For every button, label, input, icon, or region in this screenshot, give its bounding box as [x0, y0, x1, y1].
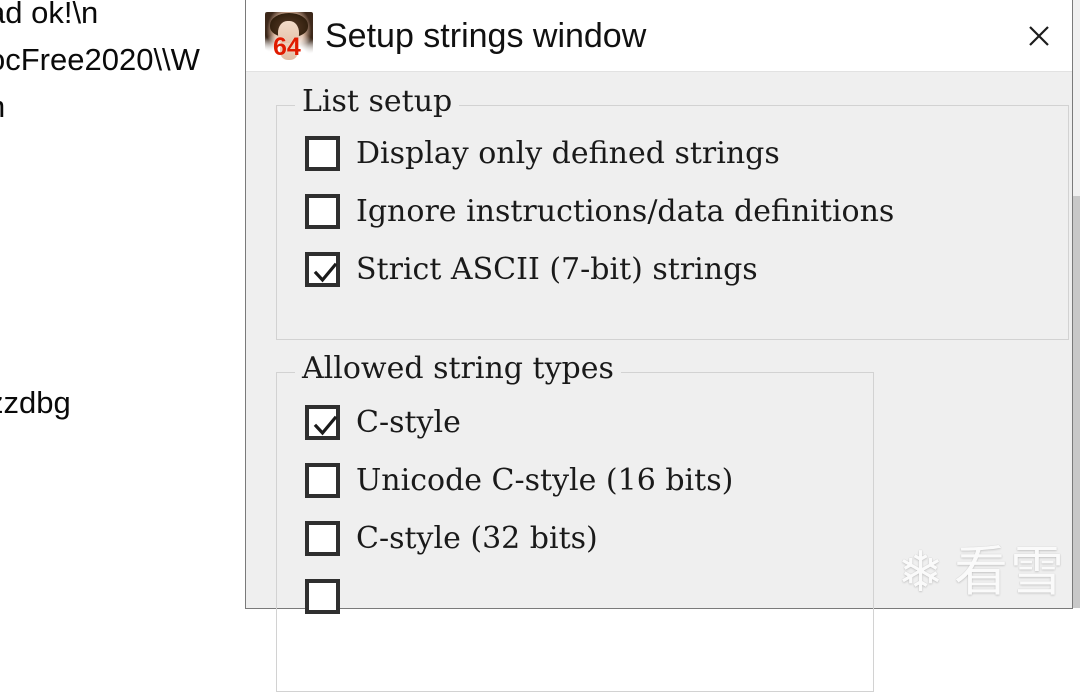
checkbox-partially-visible-below-fold[interactable]: [305, 579, 356, 614]
checkmark-icon: [308, 408, 343, 443]
checkmark-icon: [308, 255, 343, 290]
setup-strings-dialog: 64 Setup strings window List setup Displ…: [245, 0, 1073, 609]
checkbox-box[interactable]: [305, 194, 340, 229]
checkbox-label: C-style (32 bits): [356, 524, 598, 554]
ida-pro-icon: 64: [265, 12, 313, 60]
group-allowed-string-types: Allowed string types C-style Unicode C-s…: [276, 372, 874, 692]
checkbox-box[interactable]: [305, 579, 340, 614]
checkbox-label: C-style: [356, 408, 461, 438]
group-list-setup-title: List setup: [295, 87, 459, 117]
checkbox-box[interactable]: [305, 136, 340, 171]
close-icon[interactable]: [1006, 0, 1072, 71]
checkbox-unicode-c-style-16-bits[interactable]: Unicode C-style (16 bits): [305, 463, 733, 498]
checkbox-strict-ascii-7-bit-strings[interactable]: Strict ASCII (7-bit) strings: [305, 252, 758, 287]
checkbox-label: Strict ASCII (7-bit) strings: [356, 255, 758, 285]
backdrop-text-line: zzdbg: [0, 385, 71, 421]
checkbox-box[interactable]: [305, 521, 340, 556]
checkbox-label: Ignore instructions/data definitions: [356, 197, 894, 227]
backdrop-text-line: ad ok!\n: [0, 0, 98, 31]
vertical-scrollbar-thumb[interactable]: [1072, 196, 1080, 608]
checkbox-box[interactable]: [305, 405, 340, 440]
dialog-title: Setup strings window: [325, 19, 646, 53]
checkbox-c-style-32-bits[interactable]: C-style (32 bits): [305, 521, 598, 556]
checkbox-box[interactable]: [305, 252, 340, 287]
dialog-body: List setup Display only defined strings …: [246, 72, 1072, 608]
checkbox-box[interactable]: [305, 463, 340, 498]
checkbox-label: Unicode C-style (16 bits): [356, 466, 733, 496]
checkbox-display-only-defined-strings[interactable]: Display only defined strings: [305, 136, 780, 171]
checkbox-ignore-instruction-data-definitions[interactable]: Ignore instructions/data definitions: [305, 194, 894, 229]
backdrop-text-line: n: [0, 89, 5, 125]
checkbox-c-style[interactable]: C-style: [305, 405, 461, 440]
checkbox-label: Display only defined strings: [356, 139, 780, 169]
group-allowed-string-types-title: Allowed string types: [295, 354, 621, 384]
backdrop-text-line: ocFree2020\\W: [0, 42, 200, 78]
icon-bits-badge: 64: [273, 35, 301, 60]
group-list-setup: List setup Display only defined strings …: [276, 105, 1069, 340]
dialog-titlebar[interactable]: 64 Setup strings window: [246, 0, 1072, 72]
